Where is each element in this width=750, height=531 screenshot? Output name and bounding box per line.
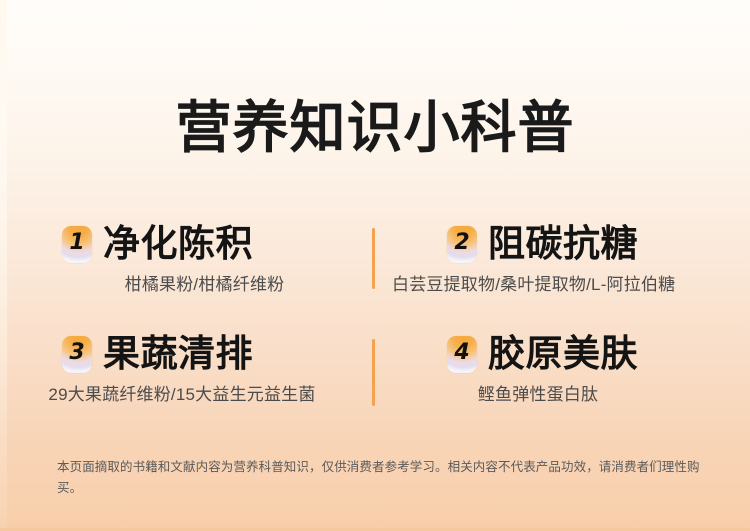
- left-edge-gradient-band: [0, 0, 7, 531]
- knowledge-item-1-subtitle: 柑橘果粉/柑橘纤维粉: [74, 274, 335, 296]
- column-divider-top: [372, 228, 375, 289]
- knowledge-item-1: 1 净化陈积 柑橘果粉/柑橘纤维粉: [62, 224, 335, 296]
- knowledge-item-3-header: 3 果蔬清排: [62, 334, 332, 374]
- disclaimer-text: 本页面摘取的书籍和文献内容为营养科普知识，仅供消费者参考学习。相关内容不代表产品…: [57, 457, 702, 499]
- number-badge-4: 4: [447, 336, 477, 373]
- knowledge-item-4: 4 胶原美肤 鲣鱼弹性蛋白肽: [447, 334, 663, 406]
- number-badge-2: 2: [447, 226, 477, 263]
- number-badge-1: 1: [62, 226, 92, 263]
- knowledge-item-1-title: 净化陈积: [103, 224, 253, 264]
- number-badge-2-label: 2: [454, 232, 469, 254]
- knowledge-item-4-subtitle: 鲣鱼弹性蛋白肽: [413, 384, 663, 406]
- knowledge-item-2: 2 阻碳抗糖 白芸豆提取物/桑叶提取物/L-阿拉伯糖: [447, 224, 672, 296]
- knowledge-item-4-title: 胶原美肤: [488, 334, 638, 374]
- knowledge-item-2-subtitle: 白芸豆提取物/桑叶提取物/L-阿拉伯糖: [392, 274, 672, 296]
- knowledge-item-4-header: 4 胶原美肤: [447, 334, 663, 374]
- number-badge-3-label: 3: [69, 342, 84, 364]
- number-badge-1-label: 1: [69, 232, 84, 254]
- knowledge-item-3-subtitle: 29大果蔬纤维粉/15大益生元益生菌: [32, 384, 332, 406]
- knowledge-item-3-title: 果蔬清排: [103, 334, 253, 374]
- promo-page: 营养知识小科普 1 净化陈积 柑橘果粉/柑橘纤维粉 2 阻碳抗糖 白芸豆提取物/…: [0, 0, 750, 531]
- knowledge-item-2-title: 阻碳抗糖: [488, 224, 638, 264]
- number-badge-4-label: 4: [454, 342, 469, 364]
- column-divider-bottom: [372, 339, 375, 406]
- page-title: 营养知识小科普: [0, 96, 750, 160]
- number-badge-3: 3: [62, 336, 92, 373]
- knowledge-item-3: 3 果蔬清排 29大果蔬纤维粉/15大益生元益生菌: [62, 334, 332, 406]
- knowledge-item-2-header: 2 阻碳抗糖: [447, 224, 672, 264]
- knowledge-item-1-header: 1 净化陈积: [62, 224, 335, 264]
